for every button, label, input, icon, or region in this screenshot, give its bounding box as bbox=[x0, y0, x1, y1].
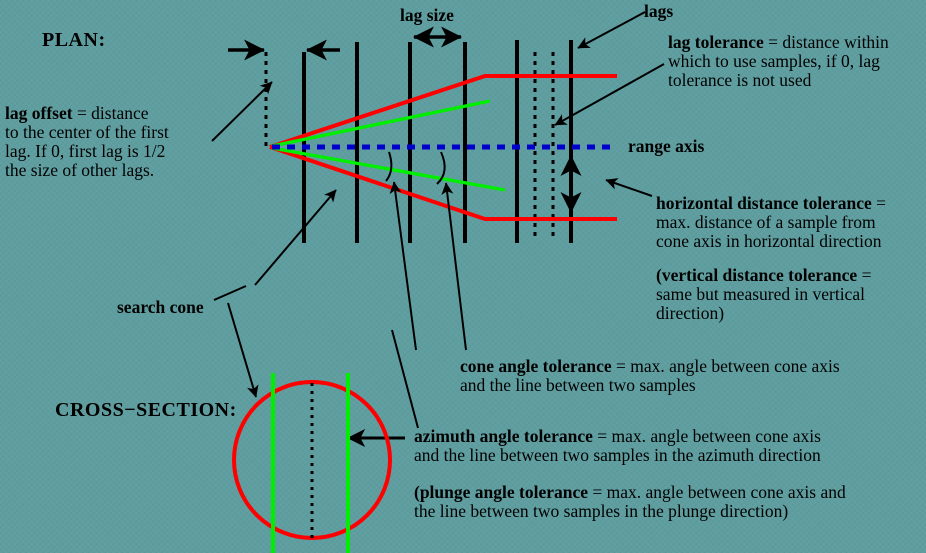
leader-search-cone-tail bbox=[214, 286, 246, 300]
annotation-plunge-angle-tolerance: (plunge angle tolerance = max. angle bet… bbox=[414, 483, 846, 521]
leader-azimuth-angle-tolerance-tail bbox=[392, 330, 418, 428]
inner-cone-lower bbox=[272, 148, 505, 190]
annotation-azimuth-angle-tolerance-line-1: and the line between two samples in the … bbox=[414, 446, 821, 465]
annotation-lag-tolerance: lag tolerance = distance within which to… bbox=[668, 33, 889, 90]
cross-section-cone-circle bbox=[234, 382, 390, 538]
annotation-cone-angle-tolerance-eq: = max. angle between cone axis bbox=[612, 356, 840, 376]
annotation-lag-tolerance-line-2: tolerance is not used bbox=[668, 71, 889, 90]
annotation-cone-angle-tolerance-key: cone angle tolerance bbox=[460, 356, 612, 376]
leader-search-cone-plan bbox=[255, 190, 336, 285]
annotation-cone-angle-tolerance-line-1: and the line between two samples bbox=[460, 376, 840, 395]
leader-lags bbox=[578, 12, 645, 48]
annotation-horizontal-distance-tolerance-eq: = bbox=[872, 193, 886, 213]
annotation-vertical-distance-tolerance-line-2: direction) bbox=[656, 304, 871, 323]
diagram-canvas: PLAN: CROSS−SECTION: lag size lags range… bbox=[0, 0, 926, 553]
leader-cone-angle-tolerance-a bbox=[394, 182, 416, 350]
search-cone-label: search cone bbox=[117, 298, 204, 317]
leader-search-cone-xsection bbox=[228, 303, 256, 397]
cross-section-label: CROSS−SECTION: bbox=[55, 400, 237, 422]
plan-lag-lines bbox=[304, 40, 571, 243]
annotation-lag-tolerance-eq: = distance within bbox=[764, 32, 889, 52]
annotation-lag-offset-line-2: lag. If 0, first lag is 1/2 bbox=[5, 142, 169, 161]
annotation-vertical-distance-tolerance: (vertical distance tolerance = same but … bbox=[656, 266, 871, 323]
annotation-lag-tolerance-key: lag tolerance bbox=[668, 32, 764, 52]
annotation-horizontal-distance-tolerance: horizontal distance tolerance = max. dis… bbox=[656, 194, 886, 251]
annotation-azimuth-angle-tolerance-key: azimuth angle tolerance bbox=[414, 426, 593, 446]
annotation-lag-offset-line-3: the size of other lags. bbox=[5, 161, 169, 180]
annotation-plunge-angle-tolerance-line-1: the line between two samples in the plun… bbox=[414, 502, 846, 521]
annotation-azimuth-angle-tolerance-eq: = max. angle between cone axis bbox=[593, 426, 821, 446]
annotation-lag-tolerance-line-1: which to use samples, if 0, lag bbox=[668, 52, 889, 71]
annotation-lag-offset-line-1: to the center of the first bbox=[5, 123, 169, 142]
annotation-horizontal-distance-tolerance-key: horizontal distance tolerance bbox=[656, 193, 872, 213]
annotation-vertical-distance-tolerance-line-1: same but measured in vertical bbox=[656, 285, 871, 304]
leader-horizontal-distance-tolerance bbox=[606, 180, 652, 196]
leader-lag-offset bbox=[212, 82, 272, 141]
lag-size-label: lag size bbox=[400, 6, 454, 25]
annotation-horizontal-distance-tolerance-line-2: cone axis in horizontal direction bbox=[656, 232, 886, 251]
annotation-azimuth-angle-tolerance: azimuth angle tolerance = max. angle bet… bbox=[414, 427, 821, 465]
annotation-cone-angle-tolerance: cone angle tolerance = max. angle betwee… bbox=[460, 357, 840, 395]
annotation-vertical-distance-tolerance-eq: = bbox=[857, 265, 871, 285]
annotation-lag-offset-key: lag offset bbox=[5, 103, 73, 123]
range-axis-label: range axis bbox=[628, 137, 704, 156]
annotation-plunge-angle-tolerance-eq: = max. angle between cone axis and bbox=[588, 482, 846, 502]
annotation-horizontal-distance-tolerance-line-1: max. distance of a sample from bbox=[656, 213, 886, 232]
plan-section-label: PLAN: bbox=[42, 30, 106, 52]
annotation-lag-offset: lag offset = distance to the center of t… bbox=[5, 104, 169, 180]
annotation-lag-offset-eq: = distance bbox=[73, 103, 149, 123]
annotation-vertical-distance-tolerance-key: (vertical distance tolerance bbox=[656, 265, 857, 285]
cone-angle-arc-1 bbox=[386, 152, 391, 181]
annotation-plunge-angle-tolerance-key: (plunge angle tolerance bbox=[414, 482, 588, 502]
lags-label: lags bbox=[644, 2, 673, 21]
